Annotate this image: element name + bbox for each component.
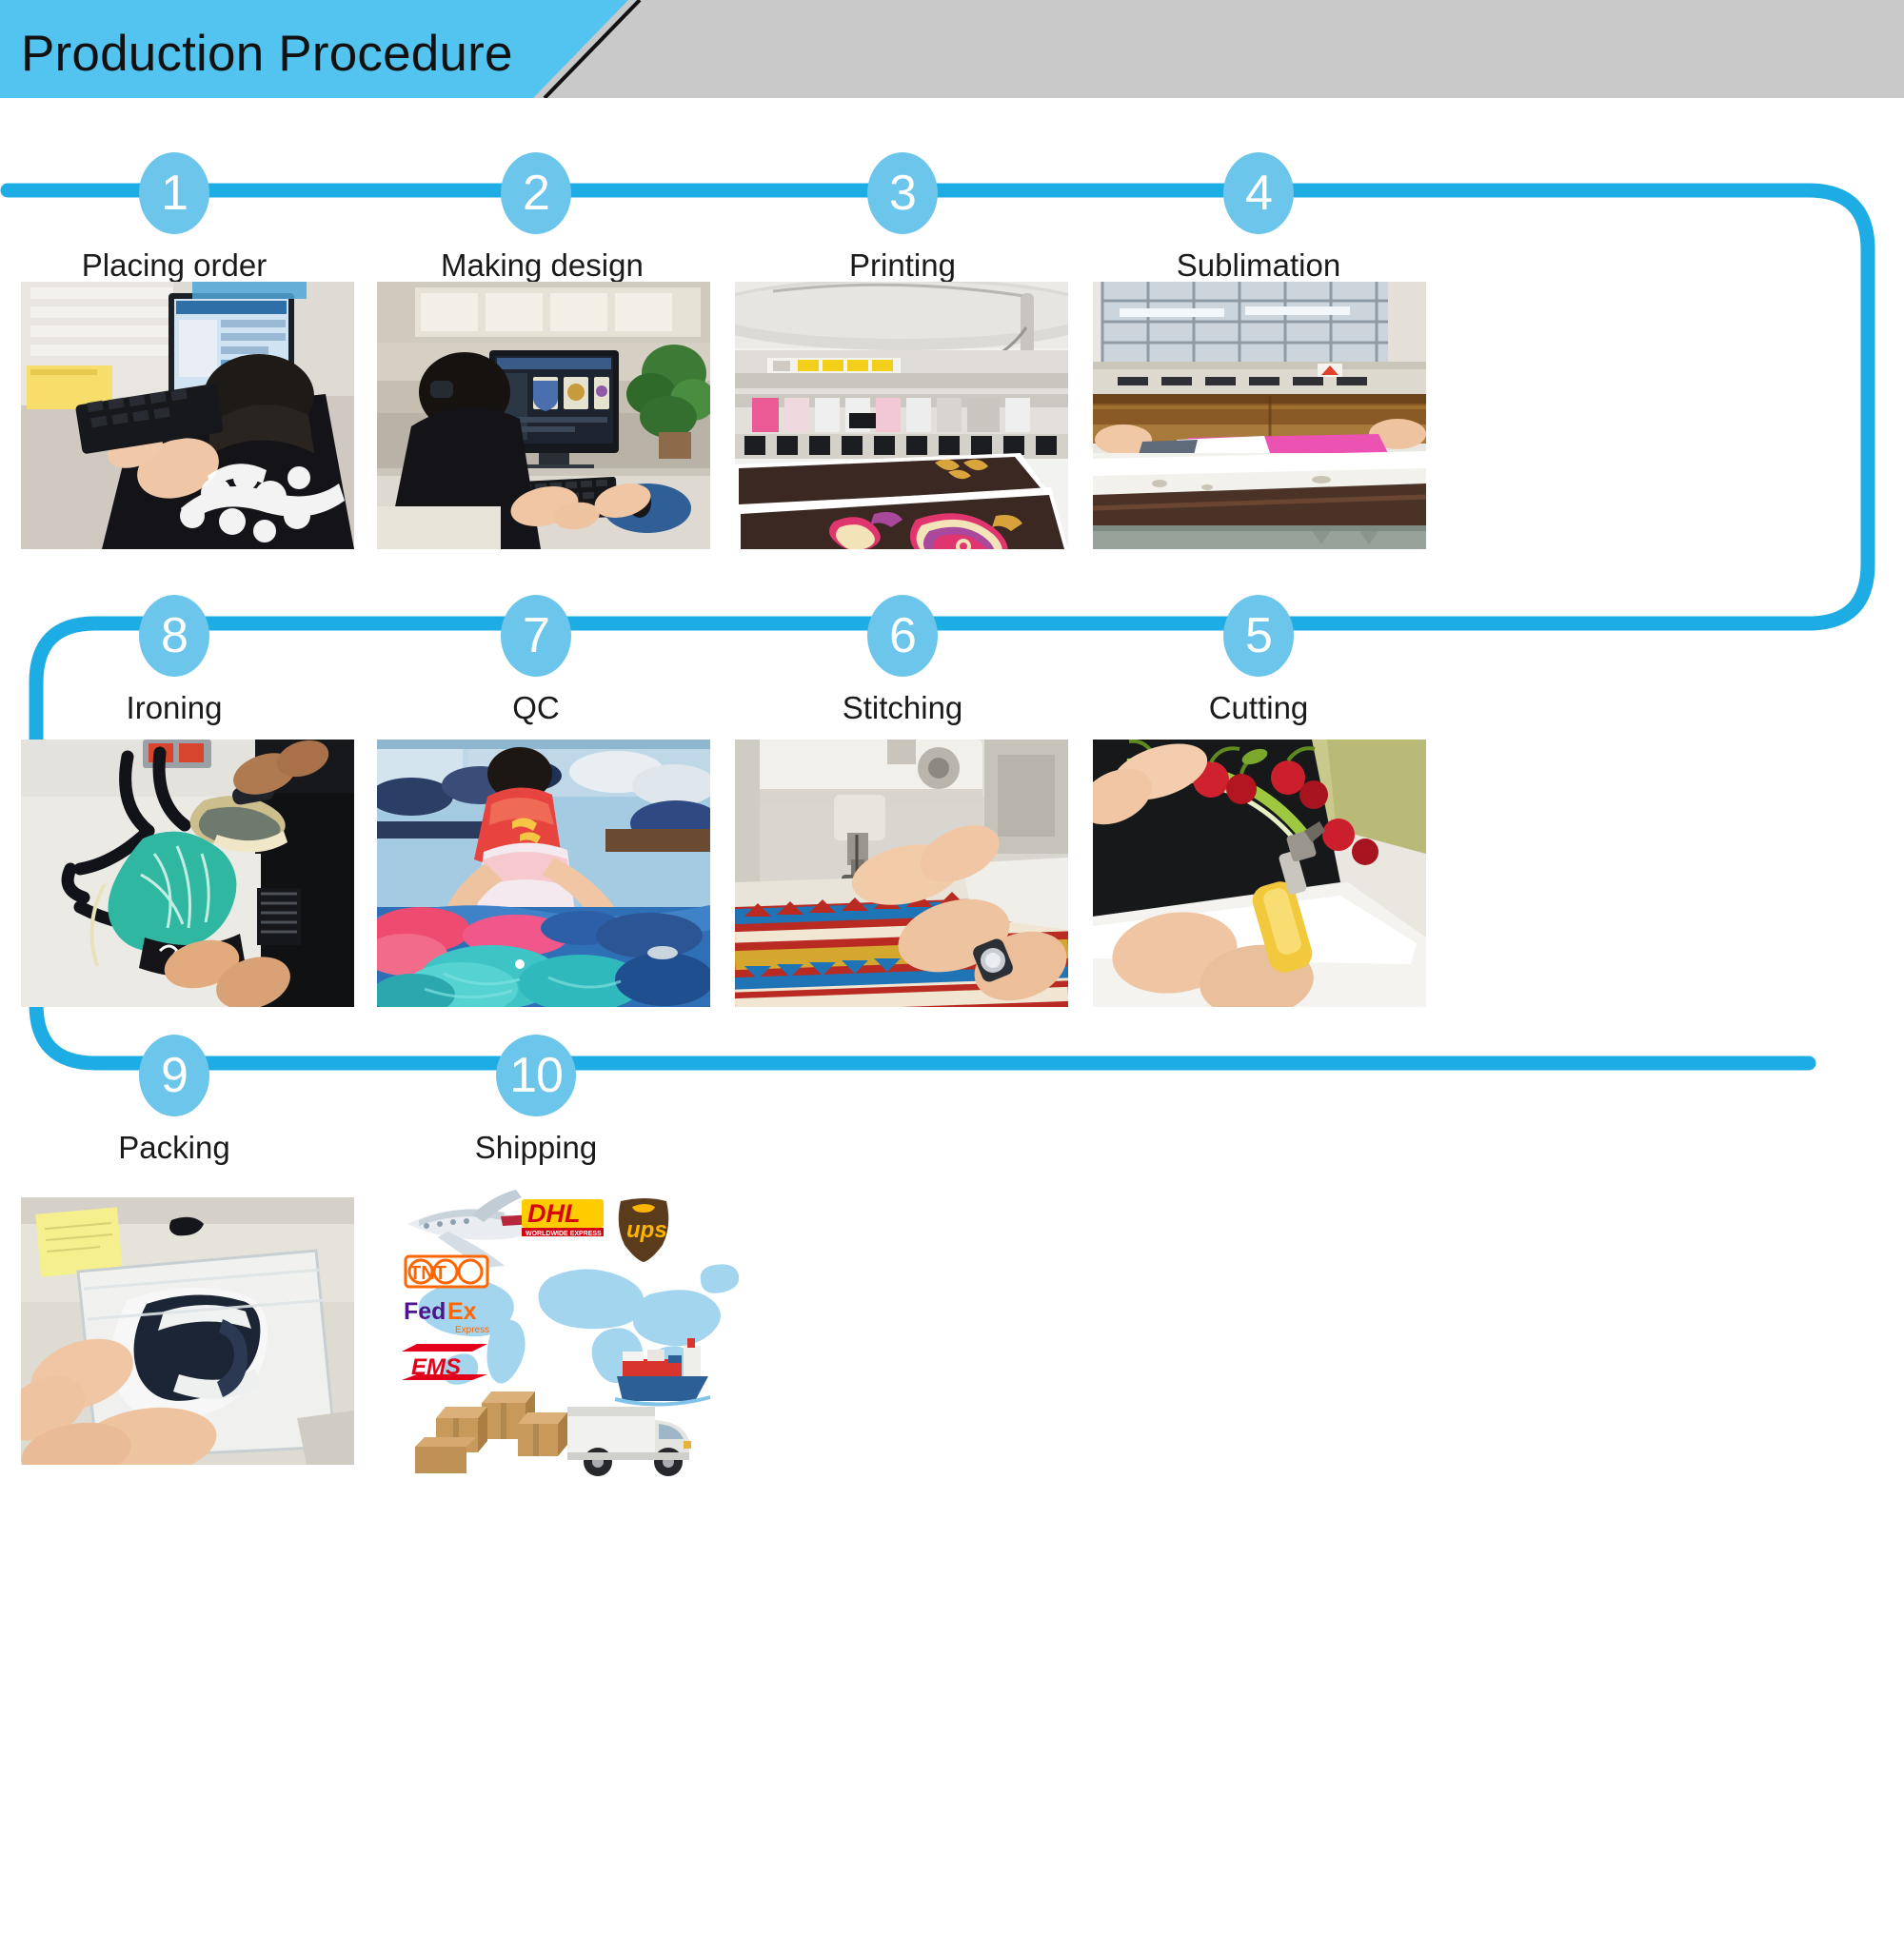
photo-stitching-art	[735, 740, 1068, 1007]
step-node-10[interactable]: 10 Shipping	[441, 1035, 631, 1166]
photo-ironing[interactable]	[21, 740, 354, 1007]
photo-stitching[interactable]	[735, 740, 1068, 1007]
photo-making-design-art	[377, 282, 710, 549]
photo-printing-art	[735, 282, 1068, 549]
page-title: Production Procedure	[21, 25, 513, 83]
step-node-3[interactable]: 3 Printing	[807, 152, 998, 284]
photo-sublimation-art	[1093, 282, 1426, 549]
photo-shipping-art: DHL WORLDWIDE EXPRESS ups TNT Fed Ex Exp…	[377, 1178, 758, 1492]
photo-cutting[interactable]	[1093, 740, 1426, 1007]
step-node-2[interactable]: 2 Making design	[441, 152, 631, 284]
step-node-7[interactable]: 7 QC	[441, 595, 631, 726]
photo-making-design[interactable]	[377, 282, 710, 549]
photo-sublimation[interactable]	[1093, 282, 1426, 549]
svg-text:Ex: Ex	[447, 1298, 477, 1325]
step-node-4[interactable]: 4 Sublimation	[1163, 152, 1354, 284]
step-number-circle: 5	[1223, 595, 1294, 677]
step-label: Placing order	[79, 247, 269, 284]
photo-packing[interactable]	[21, 1197, 354, 1465]
photo-qc-art	[377, 740, 710, 1007]
photo-placing-order-art	[21, 282, 354, 549]
step-label: QC	[441, 690, 631, 726]
photo-cutting-art	[1093, 740, 1426, 1007]
photo-packing-art	[21, 1197, 354, 1465]
step-number-circle: 4	[1223, 152, 1294, 234]
step-node-9[interactable]: 9 Packing	[79, 1035, 269, 1166]
step-label: Sublimation	[1163, 247, 1354, 284]
step-number-circle: 10	[496, 1035, 576, 1116]
step-label: Shipping	[441, 1130, 631, 1166]
step-node-8[interactable]: 8 Ironing	[79, 595, 269, 726]
svg-text:DHL: DHL	[527, 1199, 581, 1228]
photo-qc[interactable]	[377, 740, 710, 1007]
svg-text:ups: ups	[626, 1217, 667, 1243]
page-header: Production Procedure	[0, 0, 1904, 98]
step-number-circle: 9	[139, 1035, 209, 1116]
step-node-1[interactable]: 1 Placing order	[79, 152, 269, 284]
step-label: Packing	[79, 1130, 269, 1166]
svg-text:WORLDWIDE EXPRESS: WORLDWIDE EXPRESS	[526, 1231, 602, 1237]
step-number-circle: 3	[867, 152, 938, 234]
step-label: Cutting	[1163, 690, 1354, 726]
svg-text:Fed: Fed	[404, 1298, 446, 1325]
step-number-circle: 8	[139, 595, 209, 677]
photo-ironing-art	[21, 740, 354, 1007]
step-number-circle: 1	[139, 152, 209, 234]
step-number-circle: 2	[501, 152, 571, 234]
step-node-5[interactable]: 5 Cutting	[1163, 595, 1354, 726]
step-number-circle: 6	[867, 595, 938, 677]
svg-text:TNT: TNT	[409, 1263, 446, 1284]
photo-shipping[interactable]: DHL WORLDWIDE EXPRESS ups TNT Fed Ex Exp…	[377, 1178, 758, 1492]
step-number-circle: 7	[501, 595, 571, 677]
step-label: Printing	[807, 247, 998, 284]
svg-text:Express: Express	[455, 1325, 489, 1335]
step-label: Ironing	[79, 690, 269, 726]
photo-placing-order[interactable]	[21, 282, 354, 549]
step-label: Making design	[441, 247, 631, 284]
step-node-6[interactable]: 6 Stitching	[807, 595, 998, 726]
step-label: Stitching	[807, 690, 998, 726]
photo-printing[interactable]	[735, 282, 1068, 549]
